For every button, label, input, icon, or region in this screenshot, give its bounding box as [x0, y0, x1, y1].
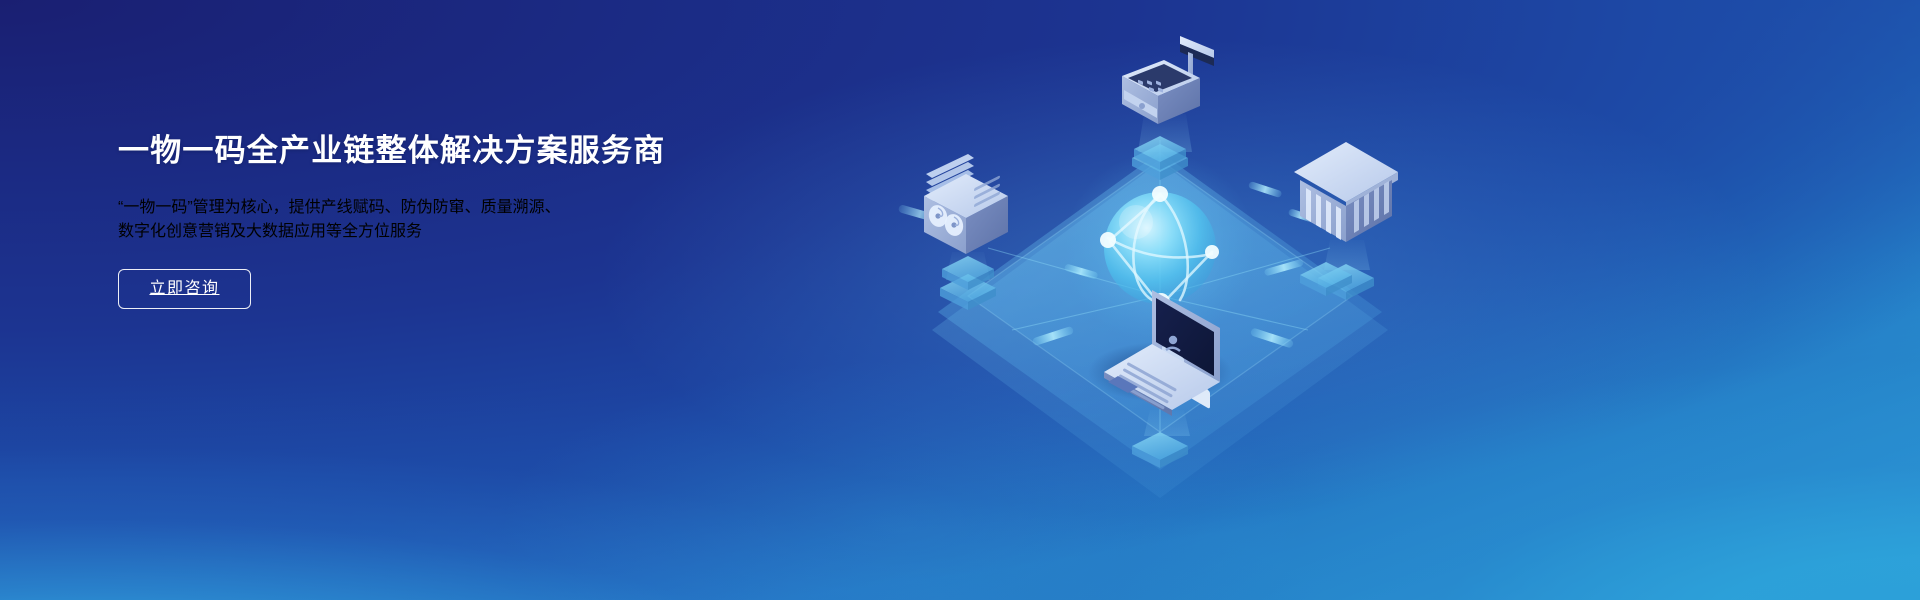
- hero-subtitle-line-2: 数字化创意营销及大数据应用等全方位服务: [118, 217, 818, 241]
- hero-banner: 一物一码全产业链整体解决方案服务商 “一物一码”管理为核心，提供产线赋码、防伪防…: [0, 0, 1920, 600]
- laptop-beam: [1144, 410, 1190, 436]
- sphere-body: [1104, 192, 1216, 304]
- hero-copy: 一物一码全产业链整体解决方案服务商 “一物一码”管理为核心，提供产线赋码、防伪防…: [118, 132, 818, 309]
- pos-drawer-knob: [1139, 103, 1145, 109]
- data-pill: [1248, 181, 1282, 198]
- sphere-specular: [1119, 205, 1153, 239]
- page-title: 一物一码全产业链整体解决方案服务商: [118, 132, 818, 171]
- hero-subtitle-line-1: “一物一码”管理为核心，提供产线赋码、防伪防窜、质量溯源、: [118, 193, 818, 217]
- hero-illustration: [860, 0, 1540, 600]
- cta-container: 立即咨询: [118, 269, 818, 309]
- consult-now-button[interactable]: 立即咨询: [118, 269, 251, 309]
